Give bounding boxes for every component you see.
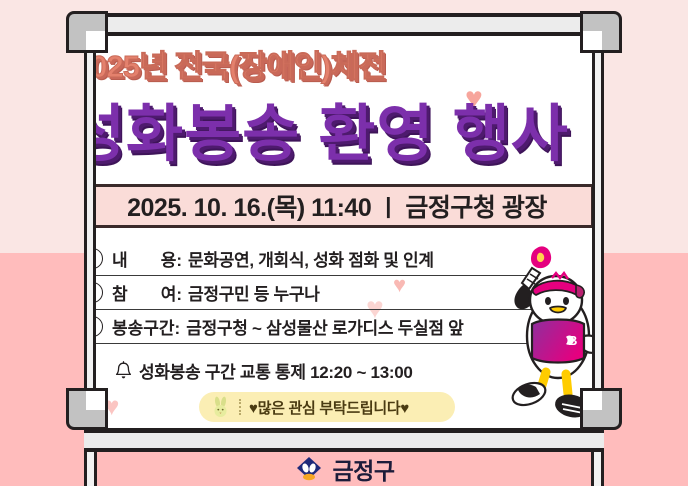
info-row: 1 내 용: 문화공연, 개회식, 성화 점화 및 인계 <box>93 242 532 276</box>
attention-pill: ♥많은 관심 부탁드립니다♥ <box>199 392 455 422</box>
traffic-notice-text: 성화봉송 구간 교통 통제 12:20 ~ 13:00 <box>139 358 413 383</box>
frame-notch-bottom-left <box>86 388 108 410</box>
event-date: 2025. 10. 16.(목) 11:40 <box>127 188 371 224</box>
info-value: 금정구청 ~ 삼성물산 로가디스 두실점 앞 <box>186 314 463 339</box>
board-panel: ♥ ♥ ♥ ♥ ♥ BUSAN 2025 2025년 <box>93 33 595 431</box>
event-poster: ♥ ♥ ♥ ♥ ♥ BUSAN 2025 2025년 <box>0 0 688 486</box>
bell-icon <box>115 361 132 380</box>
info-row: 3 봉송구간: 금정구청 ~ 삼성물산 로가디스 두실점 앞 <box>93 310 532 344</box>
footer-text: 금정구 <box>333 452 395 486</box>
board-rail-bottom <box>84 429 604 452</box>
date-place-banner: 2025. 10. 16.(목) 11:40 | 금정구청 광장 <box>93 184 594 228</box>
info-value: 문화공연, 개회식, 성화 점화 및 인계 <box>188 246 434 271</box>
info-row: 2 참 여: 금정구민 등 누구나 <box>93 276 532 310</box>
info-label: 참 여: <box>112 280 182 305</box>
poster-title-line1: 2025년 전국(장애인)체전 <box>93 41 385 86</box>
frame-notch-top-right <box>580 31 602 53</box>
pill-divider <box>239 399 241 415</box>
poster-title-line2: 성화봉송 환영 행사 <box>93 83 569 173</box>
list-number: 3 <box>93 316 103 337</box>
svg-text:B: B <box>568 333 577 348</box>
event-info-list: 1 내 용: 문화공연, 개회식, 성화 점화 및 인계 2 참 여: 금정구민… <box>93 242 532 344</box>
frame-notch-top-left <box>86 31 108 53</box>
event-place: 금정구청 광장 <box>405 188 546 224</box>
geumjeong-gu-emblem-icon <box>294 455 324 483</box>
frame-notch-bottom-right <box>580 388 602 410</box>
info-label: 내 용: <box>112 246 182 271</box>
traffic-notice: 성화봉송 구간 교통 통제 12:20 ~ 13:00 <box>115 358 413 383</box>
footer-logo: 금정구 <box>0 452 688 486</box>
list-number: 1 <box>93 248 103 269</box>
banner-separator: | <box>385 193 391 219</box>
attention-pill-text: ♥많은 관심 부탁드립니다♥ <box>249 397 409 418</box>
info-value: 금정구민 등 누구나 <box>188 280 320 305</box>
list-number: 2 <box>93 282 103 303</box>
info-label: 봉송구간: <box>112 314 180 339</box>
rabbit-icon <box>211 396 231 418</box>
busan-logo-caption: BUSAN 2025 <box>586 93 595 102</box>
